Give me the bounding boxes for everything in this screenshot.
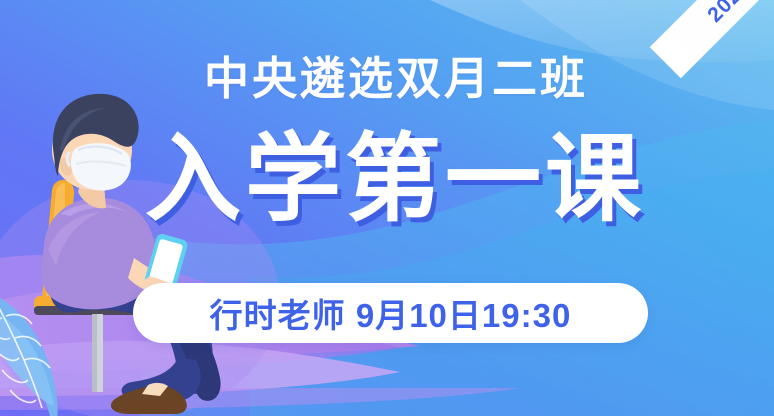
schedule-info-text: 行时老师 9月10日19:30: [210, 289, 572, 337]
course-subtitle: 中央遴选双月二班: [0, 56, 774, 101]
course-promo-banner: 2026年 中央遴选双月二班 入学第一课 行时老师 9月10日19:30: [0, 0, 774, 416]
course-headline: 入学第一课: [0, 132, 774, 228]
schedule-info-pill: 行时老师 9月10日19:30: [133, 283, 648, 343]
